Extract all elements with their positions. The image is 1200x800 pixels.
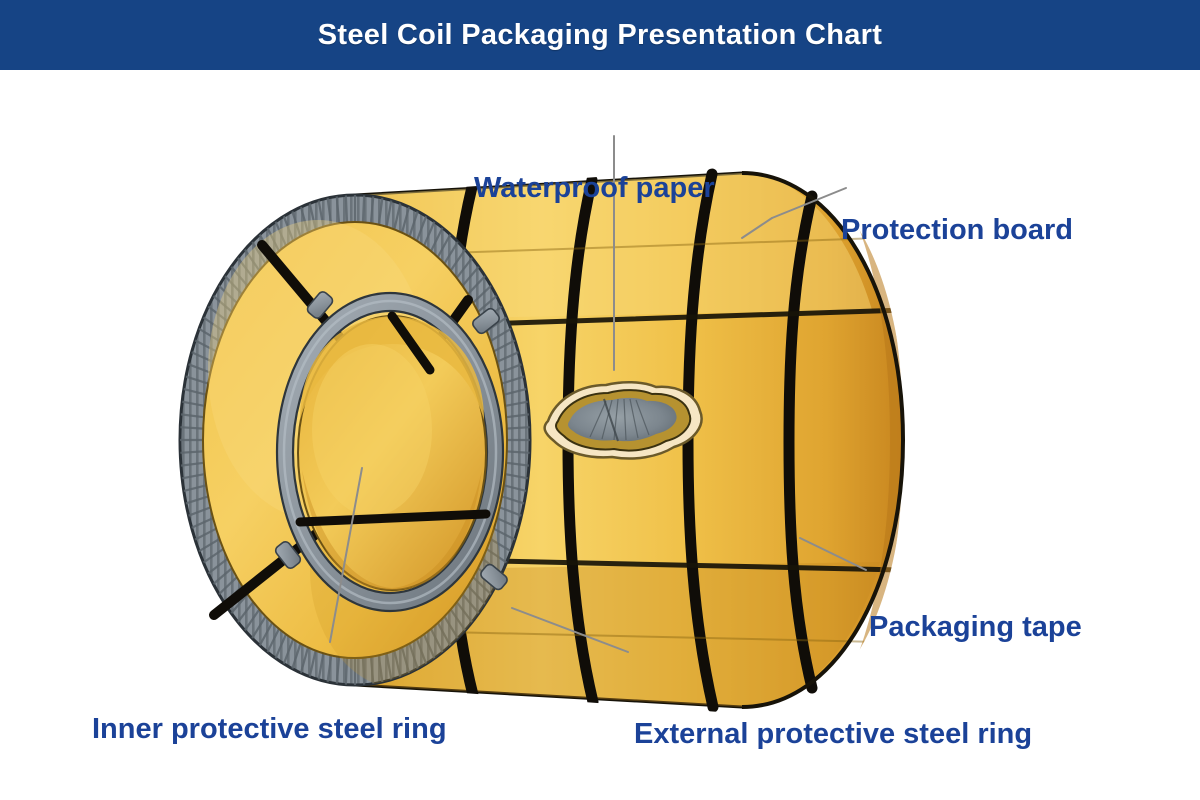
label-inner-protective-steel-ring: Inner protective steel ring (92, 715, 447, 744)
coil-front-face (180, 195, 530, 690)
page-title: Steel Coil Packaging Presentation Chart (318, 19, 882, 52)
diagram-stage: Waterproof paper Protection board Packag… (0, 70, 1200, 800)
title-bar: Steel Coil Packaging Presentation Chart (0, 0, 1200, 70)
label-packaging-tape: Packaging tape (869, 613, 1082, 642)
label-waterproof-paper: Waterproof paper (474, 174, 715, 203)
chart-page: Steel Coil Packaging Presentation Chart (0, 0, 1200, 800)
label-external-protective-steel-ring: External protective steel ring (634, 720, 1032, 749)
label-protection-board: Protection board (841, 216, 1073, 245)
